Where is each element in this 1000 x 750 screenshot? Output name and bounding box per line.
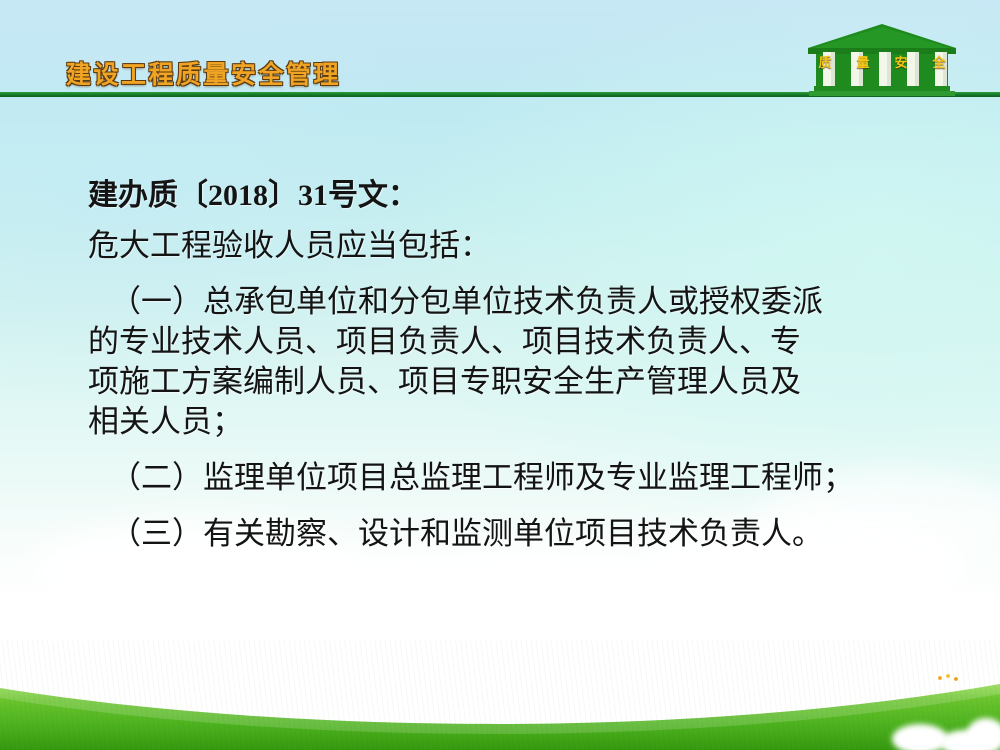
body-subheading: 危大工程验收人员应当包括： — [88, 226, 918, 266]
list-item-3-line-1: （三）有关勘察、设计和监测单位项目技术负责人。 — [88, 514, 918, 554]
flower-icon — [936, 673, 962, 684]
list-item-2-line-1: （二）监理单位项目总监理工程师及专业监理工程师； — [88, 458, 918, 498]
slide-body: 建办质〔2018〕31号文： 危大工程验收人员应当包括： （一）总承包单位和分包… — [88, 176, 918, 554]
list-item-1-line-2: 的专业技术人员、项目负责人、项目技术负责人、专 — [88, 322, 918, 362]
list-item-1-line-4: 相关人员； — [88, 402, 918, 442]
slide-canvas: 建设工程质量安全管理 — [0, 0, 1000, 750]
quality-safety-temple-logo: 质 量 安 全 — [806, 22, 958, 98]
body-heading: 建办质〔2018〕31号文： — [88, 176, 918, 216]
list-item-1-line-3: 项施工方案编制人员、项目专职安全生产管理人员及 — [88, 362, 918, 402]
cloud-shape — [966, 718, 1000, 750]
grass-decoration — [0, 640, 1000, 750]
page-title: 建设工程质量安全管理 — [66, 62, 341, 87]
list-item-1-line-1: （一）总承包单位和分包单位技术负责人或授权委派 — [88, 282, 918, 322]
slide-header: 建设工程质量安全管理 — [0, 0, 1000, 100]
cloud-shape — [892, 724, 948, 750]
